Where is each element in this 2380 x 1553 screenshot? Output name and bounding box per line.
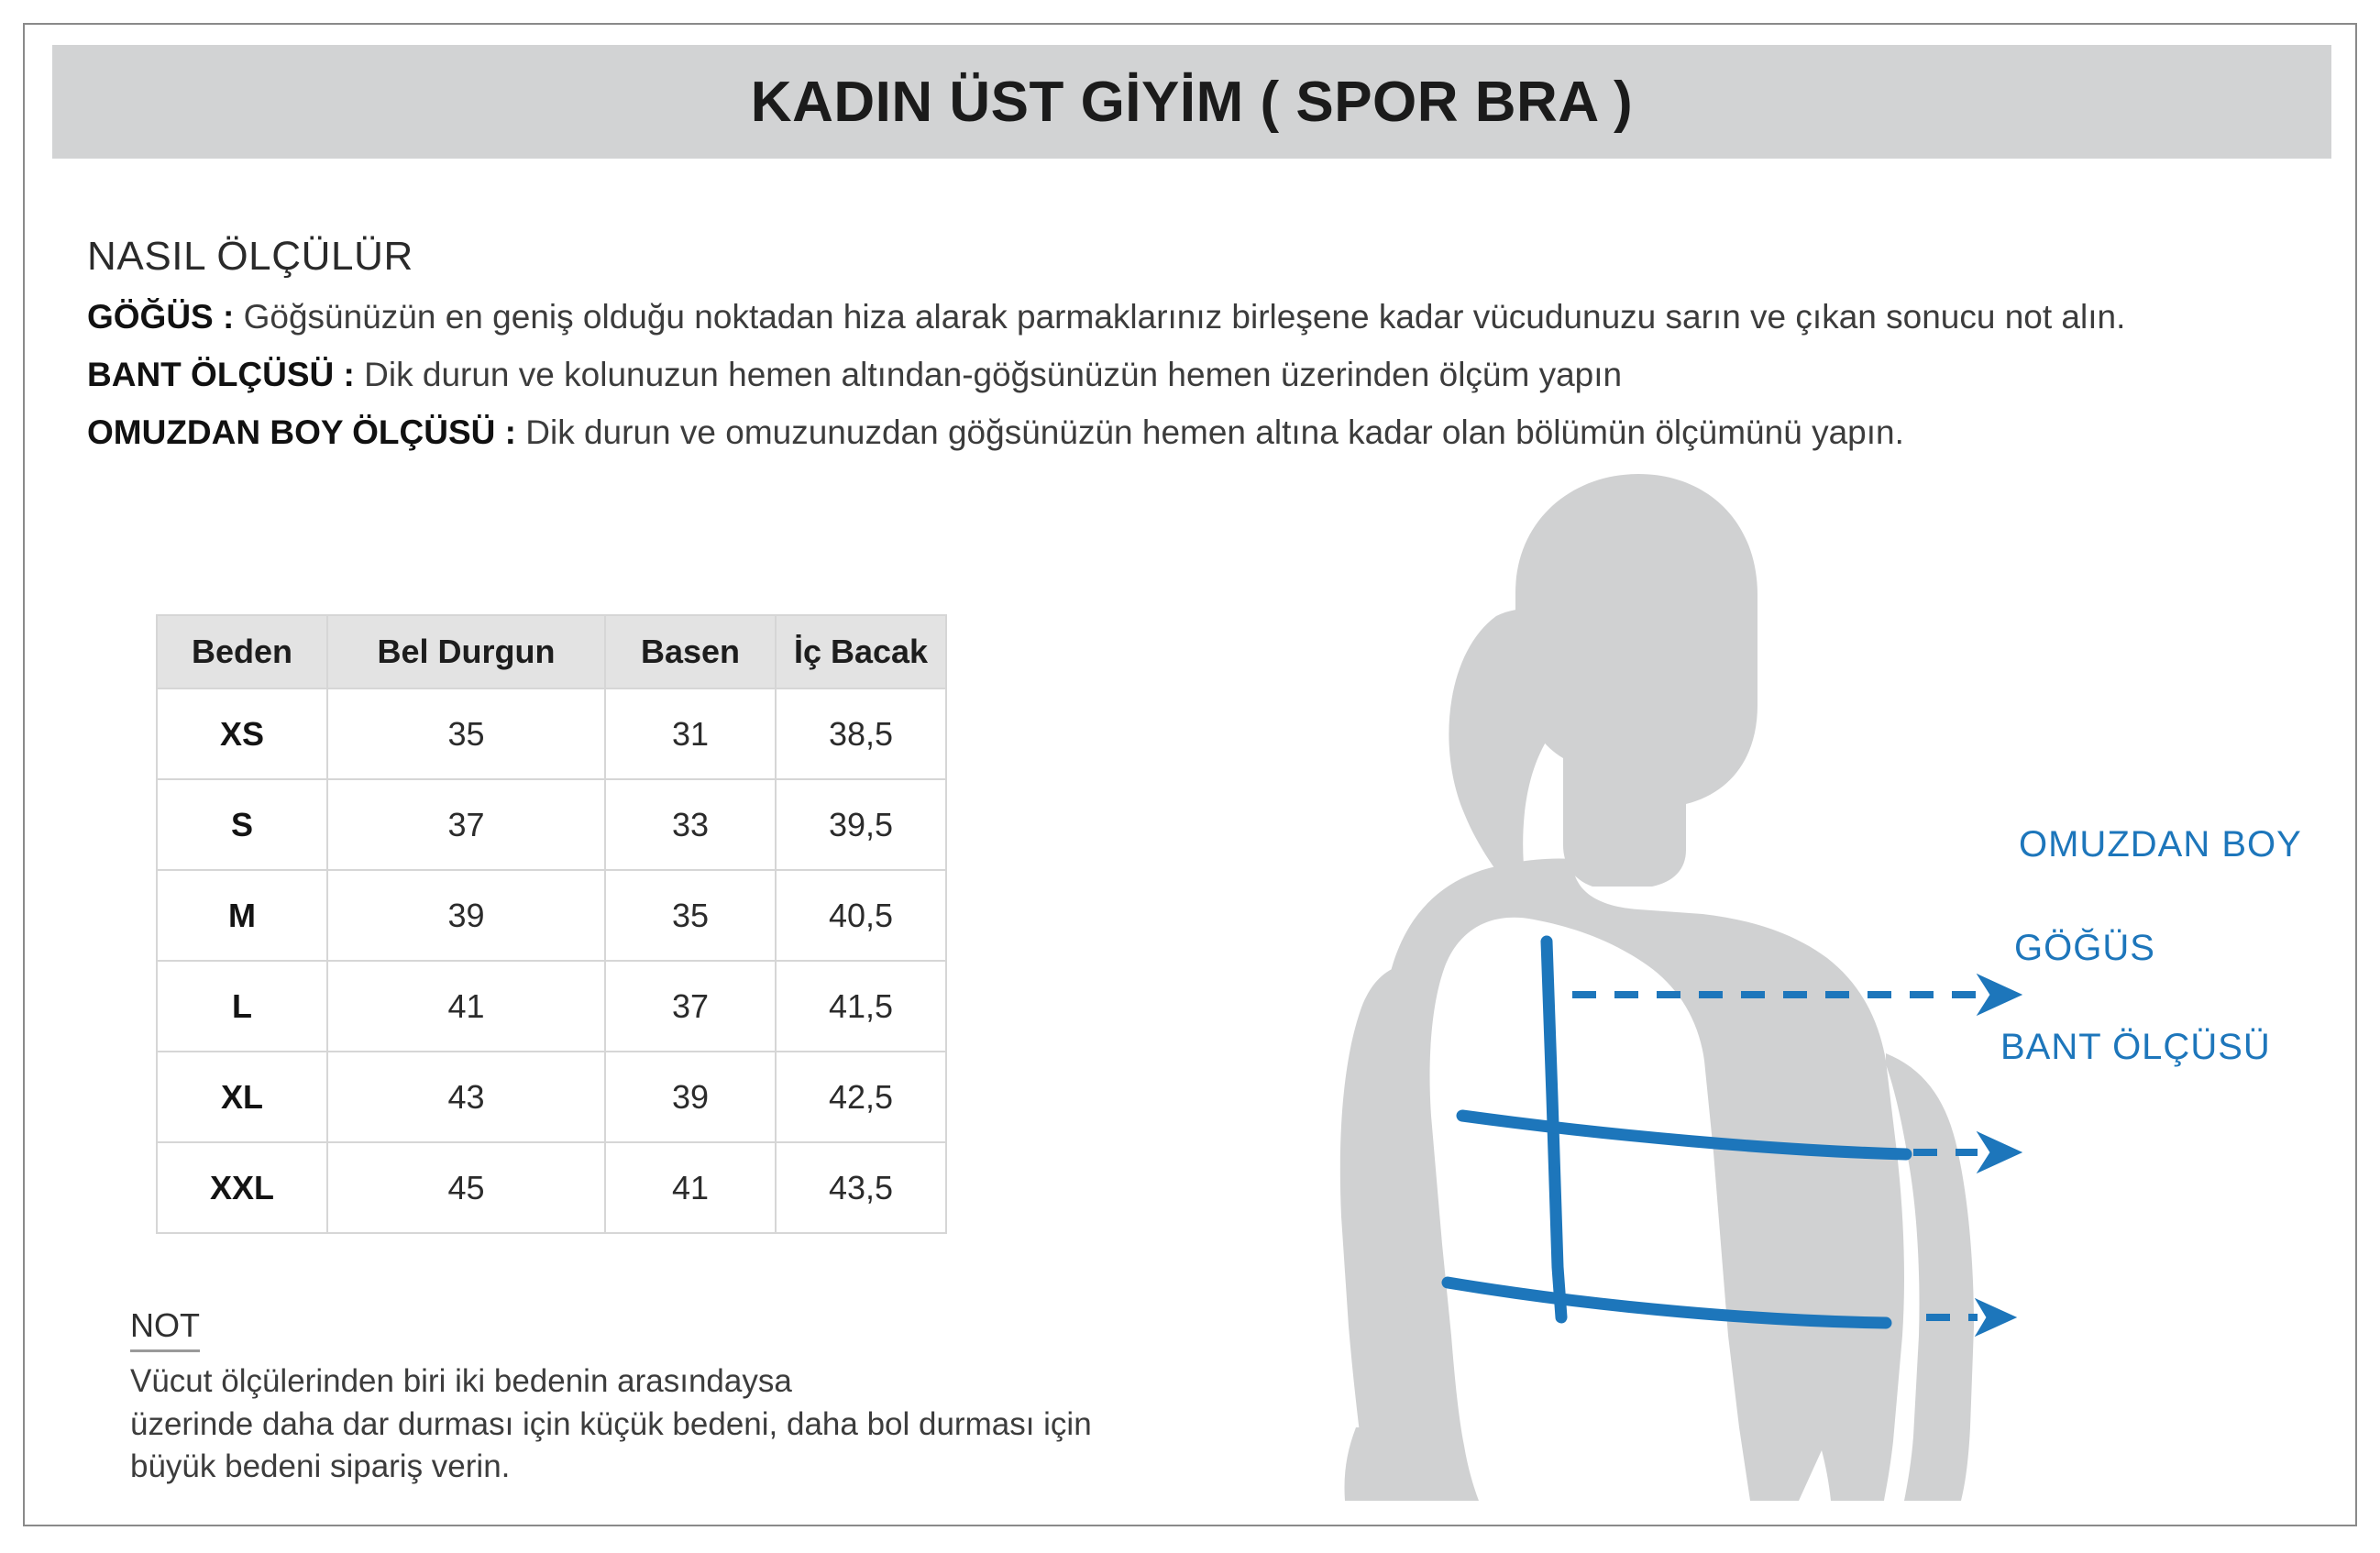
- measure-item-gogus-text: Göğsünüzün en geniş olduğu noktadan hiza…: [234, 298, 2125, 336]
- page-title: KADIN ÜST GİYİM ( SPOR BRA ): [751, 70, 1633, 135]
- measure-item-bant-olcusu-text: Dik durun ve kolunuzun hemen altından-gö…: [355, 356, 1622, 393]
- column-header-bel-durgun: Bel Durgun: [327, 615, 605, 688]
- body-silhouette: [1340, 474, 1974, 1501]
- cell-measure: 43: [327, 1052, 605, 1142]
- measure-item-gogus: GÖĞÜS : Göğsünüzün en geniş olduğu nokta…: [87, 300, 2242, 334]
- table-row: L413741,5: [157, 961, 946, 1052]
- cell-measure: 38,5: [776, 688, 946, 779]
- cell-measure: 39,5: [776, 779, 946, 870]
- size-table: Beden Bel Durgun Basen İç Bacak XS353138…: [156, 614, 947, 1234]
- cell-measure: 43,5: [776, 1142, 946, 1233]
- cell-size: M: [157, 870, 327, 961]
- cell-size: XL: [157, 1052, 327, 1142]
- callout-label-bant-olcusu: BANT ÖLÇÜSÜ: [2000, 1027, 2271, 1068]
- column-header-beden: Beden: [157, 615, 327, 688]
- size-chart-page: KADIN ÜST GİYİM ( SPOR BRA ) NASIL ÖLÇÜL…: [23, 23, 2357, 1526]
- cell-measure: 40,5: [776, 870, 946, 961]
- header-bar: KADIN ÜST GİYİM ( SPOR BRA ): [52, 45, 2331, 159]
- cell-measure: 42,5: [776, 1052, 946, 1142]
- measure-item-bant-olcusu-label: BANT ÖLÇÜSÜ :: [87, 356, 355, 393]
- measure-item-gogus-label: GÖĞÜS :: [87, 298, 234, 336]
- measure-item-omuzdan-boy-label: OMUZDAN BOY ÖLÇÜSÜ :: [87, 413, 516, 451]
- cell-measure: 39: [327, 870, 605, 961]
- table-row: XL433942,5: [157, 1052, 946, 1142]
- table-row: M393540,5: [157, 870, 946, 961]
- how-to-measure-heading: NASIL ÖLÇÜLÜR: [87, 234, 2242, 280]
- cell-measure: 31: [605, 688, 776, 779]
- cell-measure: 35: [327, 688, 605, 779]
- measure-item-omuzdan-boy: OMUZDAN BOY ÖLÇÜSÜ : Dik durun ve omuzun…: [87, 415, 2242, 449]
- cell-measure: 35: [605, 870, 776, 961]
- callout-label-omuzdan-boy: OMUZDAN BOY: [2019, 824, 2302, 865]
- size-table-head: Beden Bel Durgun Basen İç Bacak: [157, 615, 946, 688]
- table-row: S373339,5: [157, 779, 946, 870]
- table-row: XS353138,5: [157, 688, 946, 779]
- cell-measure: 45: [327, 1142, 605, 1233]
- how-to-measure-section: NASIL ÖLÇÜLÜR GÖĞÜS : Göğsünüzün en geni…: [87, 234, 2242, 473]
- column-header-ic-bacak: İç Bacak: [776, 615, 946, 688]
- cell-measure: 39: [605, 1052, 776, 1142]
- size-table-body: XS353138,5S373339,5M393540,5L413741,5XL4…: [157, 688, 946, 1233]
- column-header-basen: Basen: [605, 615, 776, 688]
- cell-measure: 41: [605, 1142, 776, 1233]
- cell-measure: 37: [605, 961, 776, 1052]
- measurement-diagram: [1336, 456, 2335, 1501]
- note-body: Vücut ölçülerinden biri iki bedenin aras…: [130, 1360, 1322, 1489]
- cell-measure: 37: [327, 779, 605, 870]
- callout-label-gogus: GÖĞÜS: [2014, 928, 2155, 969]
- note-title: NOT: [130, 1306, 200, 1352]
- cell-size: XS: [157, 688, 327, 779]
- cell-size: S: [157, 779, 327, 870]
- table-header-row: Beden Bel Durgun Basen İç Bacak: [157, 615, 946, 688]
- cell-measure: 41,5: [776, 961, 946, 1052]
- cell-size: XXL: [157, 1142, 327, 1233]
- cell-size: L: [157, 961, 327, 1052]
- cell-measure: 33: [605, 779, 776, 870]
- note-section: NOT Vücut ölçülerinden biri iki bedenin …: [130, 1306, 1322, 1489]
- measure-item-omuzdan-boy-text: Dik durun ve omuzunuzdan göğsünüzün heme…: [516, 413, 1904, 451]
- table-row: XXL454143,5: [157, 1142, 946, 1233]
- cell-measure: 41: [327, 961, 605, 1052]
- measure-item-bant-olcusu: BANT ÖLÇÜSÜ : Dik durun ve kolunuzun hem…: [87, 358, 2242, 391]
- female-torso-silhouette-icon: [1336, 456, 2335, 1501]
